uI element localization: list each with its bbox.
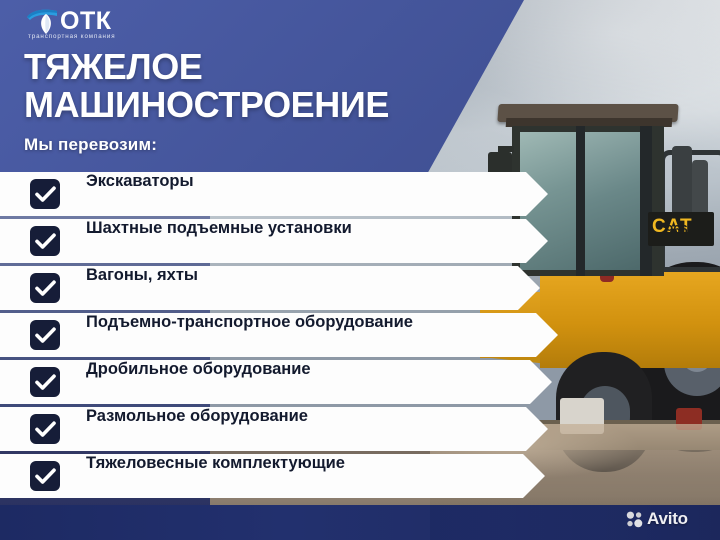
check-icon — [35, 421, 56, 438]
list-item-label: Дробильное оборудование — [86, 360, 311, 404]
list-item[interactable]: Вагоны, яхты — [0, 266, 540, 310]
checkbox-checked[interactable] — [30, 273, 60, 303]
list-item-label: Тяжеловесные комплектующие — [86, 454, 345, 498]
check-icon — [35, 233, 56, 250]
list-item[interactable]: Шахтные подъемные установки — [0, 219, 548, 263]
title-line-1: ТЯЖЕЛОЕ — [24, 48, 494, 86]
list-item-label: Подъемно-транспортное оборудование — [86, 313, 413, 357]
list-item[interactable]: Размольное оборудование — [0, 407, 548, 451]
list-item[interactable]: Экскаваторы — [0, 172, 548, 216]
avito-text: Avito — [647, 509, 688, 529]
list-item-label: Размольное оборудование — [86, 407, 308, 451]
checkbox-checked[interactable] — [30, 367, 60, 397]
check-icon — [35, 468, 56, 485]
list-item[interactable]: Дробильное оборудование — [0, 360, 552, 404]
checkbox-checked[interactable] — [30, 461, 60, 491]
title-line-2: МАШИНОСТРОЕНИЕ — [24, 86, 494, 124]
poster-image: CAT 966 ОТК транспортная компания ТЯЖЕЛО… — [0, 0, 720, 540]
avito-logo-icon — [626, 511, 643, 528]
checkbox-checked[interactable] — [30, 414, 60, 444]
list-item-banner — [0, 266, 540, 310]
otk-swoosh-icon — [26, 9, 62, 35]
check-icon — [35, 374, 56, 391]
list-item[interactable]: Подъемно-транспортное оборудование — [0, 313, 558, 357]
logo-text: ОТК — [60, 7, 111, 36]
list-item-label: Экскаваторы — [86, 172, 194, 216]
list-item-label: Шахтные подъемные установки — [86, 219, 352, 263]
checkbox-checked[interactable] — [30, 320, 60, 350]
service-list: ЭкскаваторыШахтные подъемные установкиВа… — [0, 172, 720, 522]
logo-tagline: транспортная компания — [28, 33, 115, 40]
avito-watermark: Avito — [626, 508, 688, 530]
check-icon — [35, 280, 56, 297]
list-item-label: Вагоны, яхты — [86, 266, 198, 310]
checkbox-checked[interactable] — [30, 226, 60, 256]
check-icon — [35, 327, 56, 344]
list-item[interactable]: Тяжеловесные комплектующие — [0, 454, 545, 498]
page-title: ТЯЖЕЛОЕ МАШИНОСТРОЕНИЕ — [24, 48, 494, 124]
subtitle: Мы перевозим: — [24, 135, 157, 155]
list-item-banner — [0, 172, 548, 216]
company-logo[interactable]: ОТК транспортная компания — [26, 7, 146, 41]
check-icon — [35, 186, 56, 203]
checkbox-checked[interactable] — [30, 179, 60, 209]
